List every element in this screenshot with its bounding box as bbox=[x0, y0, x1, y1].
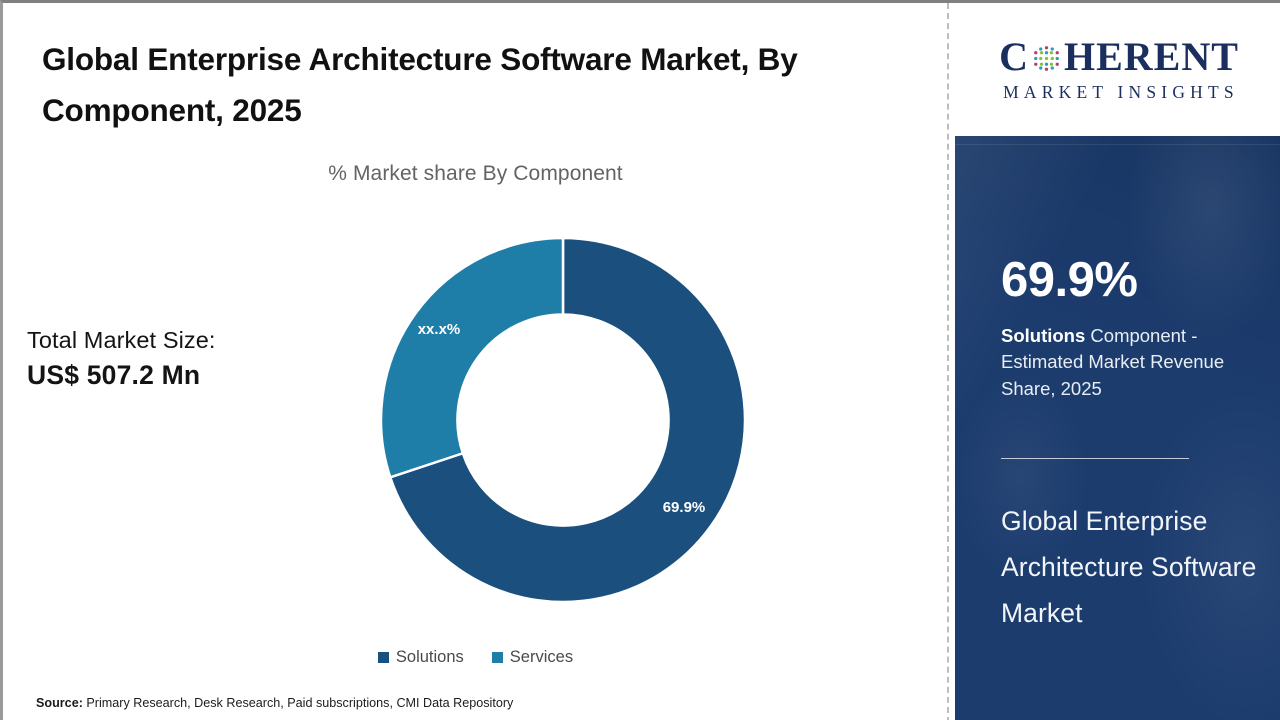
legend-swatch-services-icon bbox=[492, 652, 503, 663]
highlight-stat-value: 69.9% bbox=[1001, 256, 1137, 305]
logo-letter-c: C bbox=[999, 37, 1029, 77]
legend-label-services: Services bbox=[510, 648, 573, 667]
chart-subtitle: % Market share By Component bbox=[3, 162, 948, 186]
source-text: Primary Research, Desk Research, Paid su… bbox=[83, 696, 513, 710]
legend-item-solutions[interactable]: Solutions bbox=[378, 648, 464, 667]
legend-label-solutions: Solutions bbox=[396, 648, 464, 667]
legend-swatch-solutions-icon bbox=[378, 652, 389, 663]
donut-slice-services[interactable] bbox=[381, 238, 563, 477]
logo-tagline: MARKET INSIGHTS bbox=[999, 82, 1239, 103]
source-note: Source: Primary Research, Desk Research,… bbox=[36, 696, 513, 710]
panel-divider-dashed bbox=[947, 3, 949, 720]
infographic-page: Global Enterprise Architecture Software … bbox=[0, 0, 1280, 720]
logo-wordmark: C bbox=[999, 37, 1239, 77]
total-market-size-block: Total Market Size: US$ 507.2 Mn bbox=[27, 326, 216, 393]
page-title: Global Enterprise Architecture Software … bbox=[42, 34, 912, 136]
side-panel-body: 69.9% Solutions Component - Estimated Ma… bbox=[955, 136, 1280, 720]
dotted-globe-icon bbox=[1030, 42, 1063, 75]
logo-letters-herent: HERENT bbox=[1064, 37, 1239, 77]
chart-panel: Global Enterprise Architecture Software … bbox=[3, 3, 948, 720]
donut-chart: 69.9% xx.x% bbox=[381, 238, 745, 602]
panel-texture-line bbox=[955, 144, 1280, 145]
legend-item-services[interactable]: Services bbox=[492, 648, 573, 667]
brand-logo[interactable]: C bbox=[955, 3, 1280, 136]
source-label: Source: bbox=[36, 696, 83, 710]
highlight-stat-keyword: Solutions bbox=[1001, 325, 1085, 346]
slice-label-services: xx.x% bbox=[418, 321, 461, 338]
panel-horizontal-rule bbox=[1001, 458, 1189, 459]
side-panel: C bbox=[955, 3, 1280, 720]
slice-label-solutions: 69.9% bbox=[663, 499, 706, 516]
highlight-stat-description: Solutions Component - Estimated Market R… bbox=[1001, 323, 1251, 402]
donut-chart-svg: 69.9% xx.x% bbox=[381, 238, 745, 602]
total-market-size-label: Total Market Size: bbox=[27, 326, 216, 355]
chart-legend: Solutions Services bbox=[3, 648, 948, 667]
panel-market-name: Global Enterprise Architecture Software … bbox=[1001, 499, 1263, 637]
total-market-size-value: US$ 507.2 Mn bbox=[27, 359, 216, 392]
